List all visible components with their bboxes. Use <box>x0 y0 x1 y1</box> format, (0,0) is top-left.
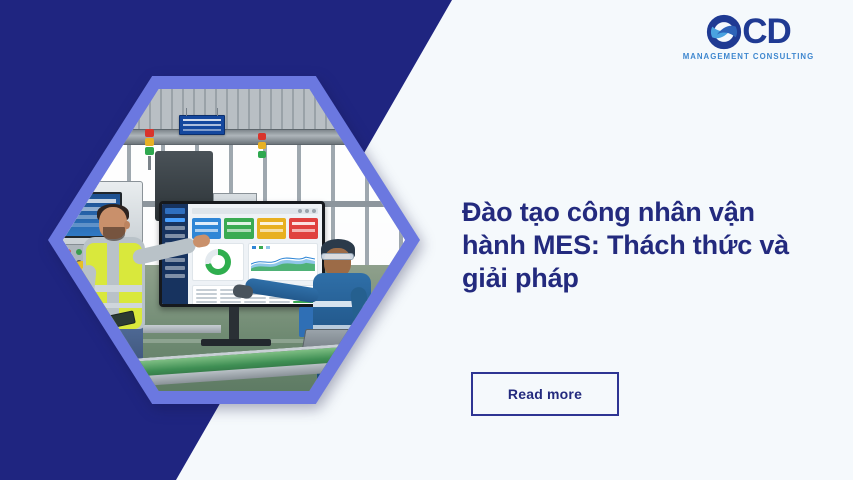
kpi-card-yellow <box>257 218 286 239</box>
ocd-swoosh-ring-icon <box>706 14 742 50</box>
factory-photo <box>63 89 405 391</box>
display-base <box>201 339 271 346</box>
ocd-logo[interactable]: CD MANAGEMENT CONSULTING <box>677 14 820 61</box>
donut-chart <box>192 243 244 281</box>
conveyor-roller <box>89 355 109 375</box>
logo-wordmark: CD <box>742 15 791 49</box>
overhead-sign-icon <box>179 115 225 135</box>
hexagon-photo-frame <box>48 76 420 404</box>
logo-tagline: MANAGEMENT CONSULTING <box>683 51 814 61</box>
page-title: Đào tạo công nhân vận hành MES: Thách th… <box>462 196 792 295</box>
display-stand <box>229 307 239 341</box>
dashboard-kpi-row <box>192 218 318 239</box>
read-more-button[interactable]: Read more <box>471 372 619 416</box>
kpi-card-red <box>289 218 318 239</box>
kpi-card-green <box>224 218 253 239</box>
andon-stack-light-icon <box>145 129 154 165</box>
promo-banner: CD MANAGEMENT CONSULTING Đào tạo công nh… <box>0 0 853 480</box>
content-column: CD MANAGEMENT CONSULTING Đào tạo công nh… <box>462 0 853 480</box>
overhead-sign-icon <box>63 111 99 133</box>
andon-stack-light-icon <box>258 133 266 167</box>
